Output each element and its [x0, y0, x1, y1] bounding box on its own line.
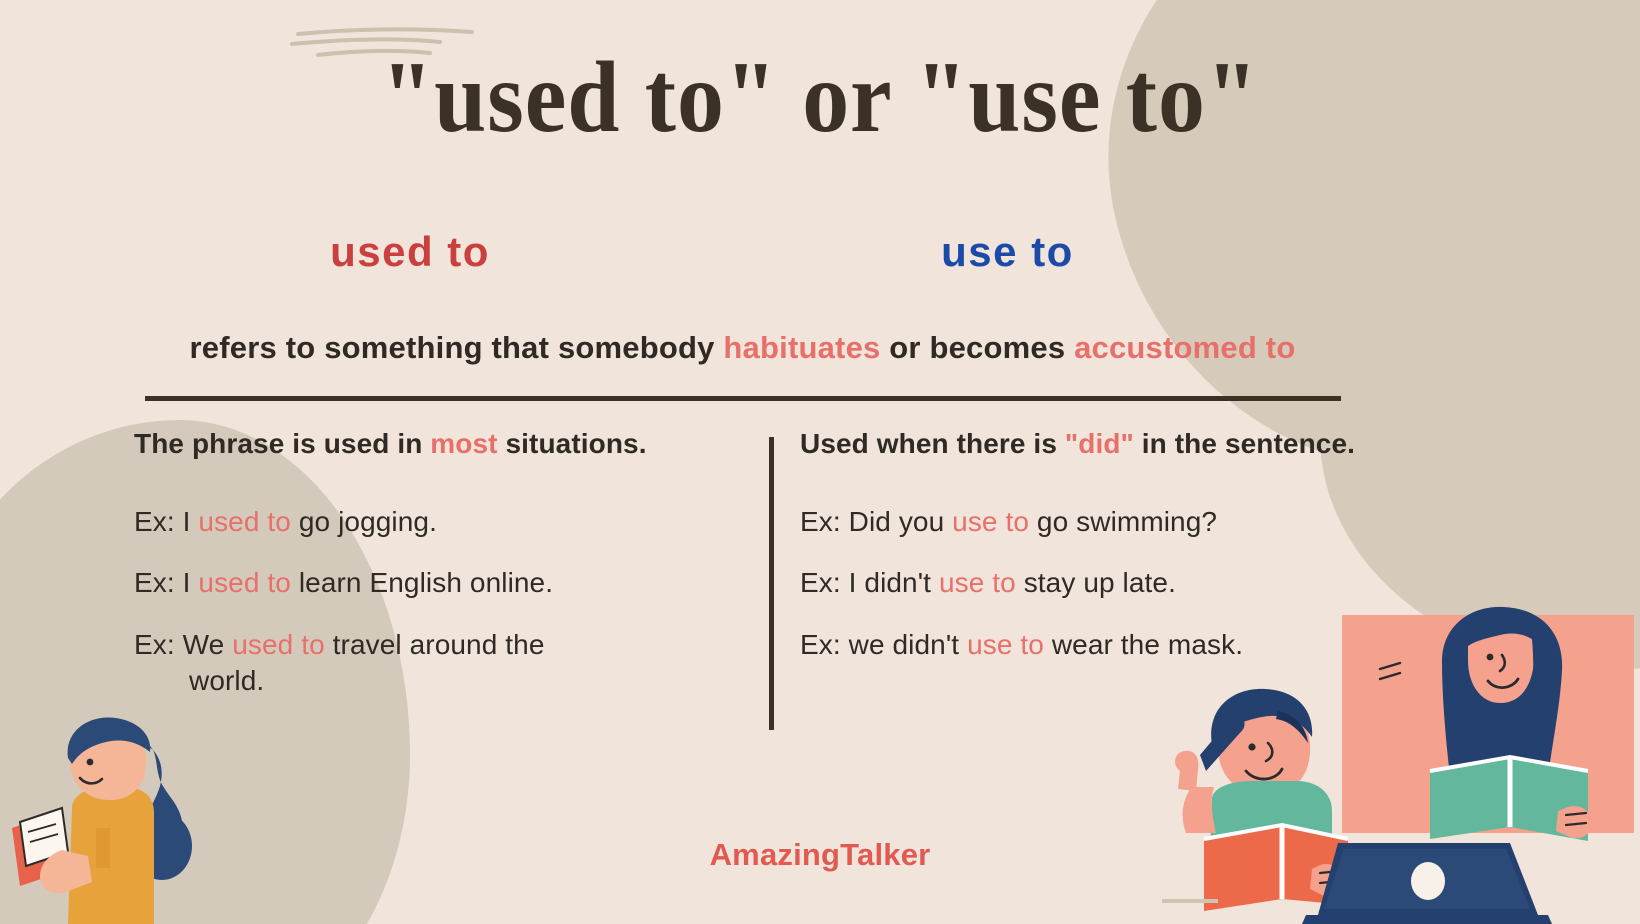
example-item: Ex: I used to learn English online. — [134, 565, 749, 601]
example-suffix: learn English online. — [291, 567, 553, 598]
right-title-part-1: Used when there is — [800, 428, 1065, 459]
example-keyword: used to — [232, 629, 325, 660]
left-title-highlight: most — [430, 428, 497, 459]
example-keyword: use to — [967, 629, 1044, 660]
example-continuation: world. — [134, 663, 749, 699]
example-prefix: Ex: We — [134, 629, 232, 660]
left-title-part-2: situations. — [498, 428, 647, 459]
subtitle-highlight-habituates: habituates — [723, 330, 880, 365]
example-keyword: used to — [198, 506, 291, 537]
heading-use-to: use to — [675, 228, 1340, 276]
vertical-divider — [769, 437, 774, 730]
right-column-title: Used when there is "did" in the sentence… — [800, 428, 1360, 460]
example-prefix: Ex: I — [134, 567, 198, 598]
example-suffix: go swimming? — [1029, 506, 1217, 537]
example-suffix: stay up late. — [1016, 567, 1176, 598]
background-blob-top-right-secondary — [1320, 150, 1640, 670]
example-suffix: go jogging. — [291, 506, 437, 537]
example-keyword: use to — [952, 506, 1029, 537]
page-title: "used to" or "use to" — [66, 44, 1575, 151]
right-title-part-2: in the sentence. — [1134, 428, 1355, 459]
students-studying-illustration — [1100, 595, 1640, 924]
subtitle-part-2: or becomes — [880, 330, 1074, 365]
left-column: The phrase is used in most situations. E… — [134, 428, 749, 725]
right-title-highlight: "did" — [1065, 428, 1134, 459]
heading-used-to: used to — [145, 228, 675, 276]
example-item: Ex: We used to travel around theworld. — [134, 627, 749, 700]
girl-reading-book-illustration — [10, 700, 240, 924]
left-column-title: The phrase is used in most situations. — [134, 428, 749, 460]
example-prefix: Ex: Did you — [800, 506, 952, 537]
horizontal-divider — [145, 396, 1341, 401]
example-prefix: Ex: I didn't — [800, 567, 939, 598]
example-suffix: travel around the — [325, 629, 545, 660]
example-keyword: use to — [939, 567, 1016, 598]
subtitle-part-1: refers to something that somebody — [190, 330, 724, 365]
example-prefix: Ex: we didn't — [800, 629, 967, 660]
subtitle: refers to something that somebody habitu… — [145, 330, 1340, 366]
column-headings: used to use to — [145, 228, 1340, 276]
infographic-canvas: "used to" or "use to" used to use to ref… — [0, 0, 1640, 924]
example-prefix: Ex: I — [134, 506, 198, 537]
example-keyword: used to — [198, 567, 291, 598]
example-item: Ex: Did you use to go swimming? — [800, 504, 1360, 540]
example-item: Ex: I used to go jogging. — [134, 504, 749, 540]
subtitle-highlight-accustomed: accustomed to — [1074, 330, 1295, 365]
left-title-part-1: The phrase is used in — [134, 428, 430, 459]
